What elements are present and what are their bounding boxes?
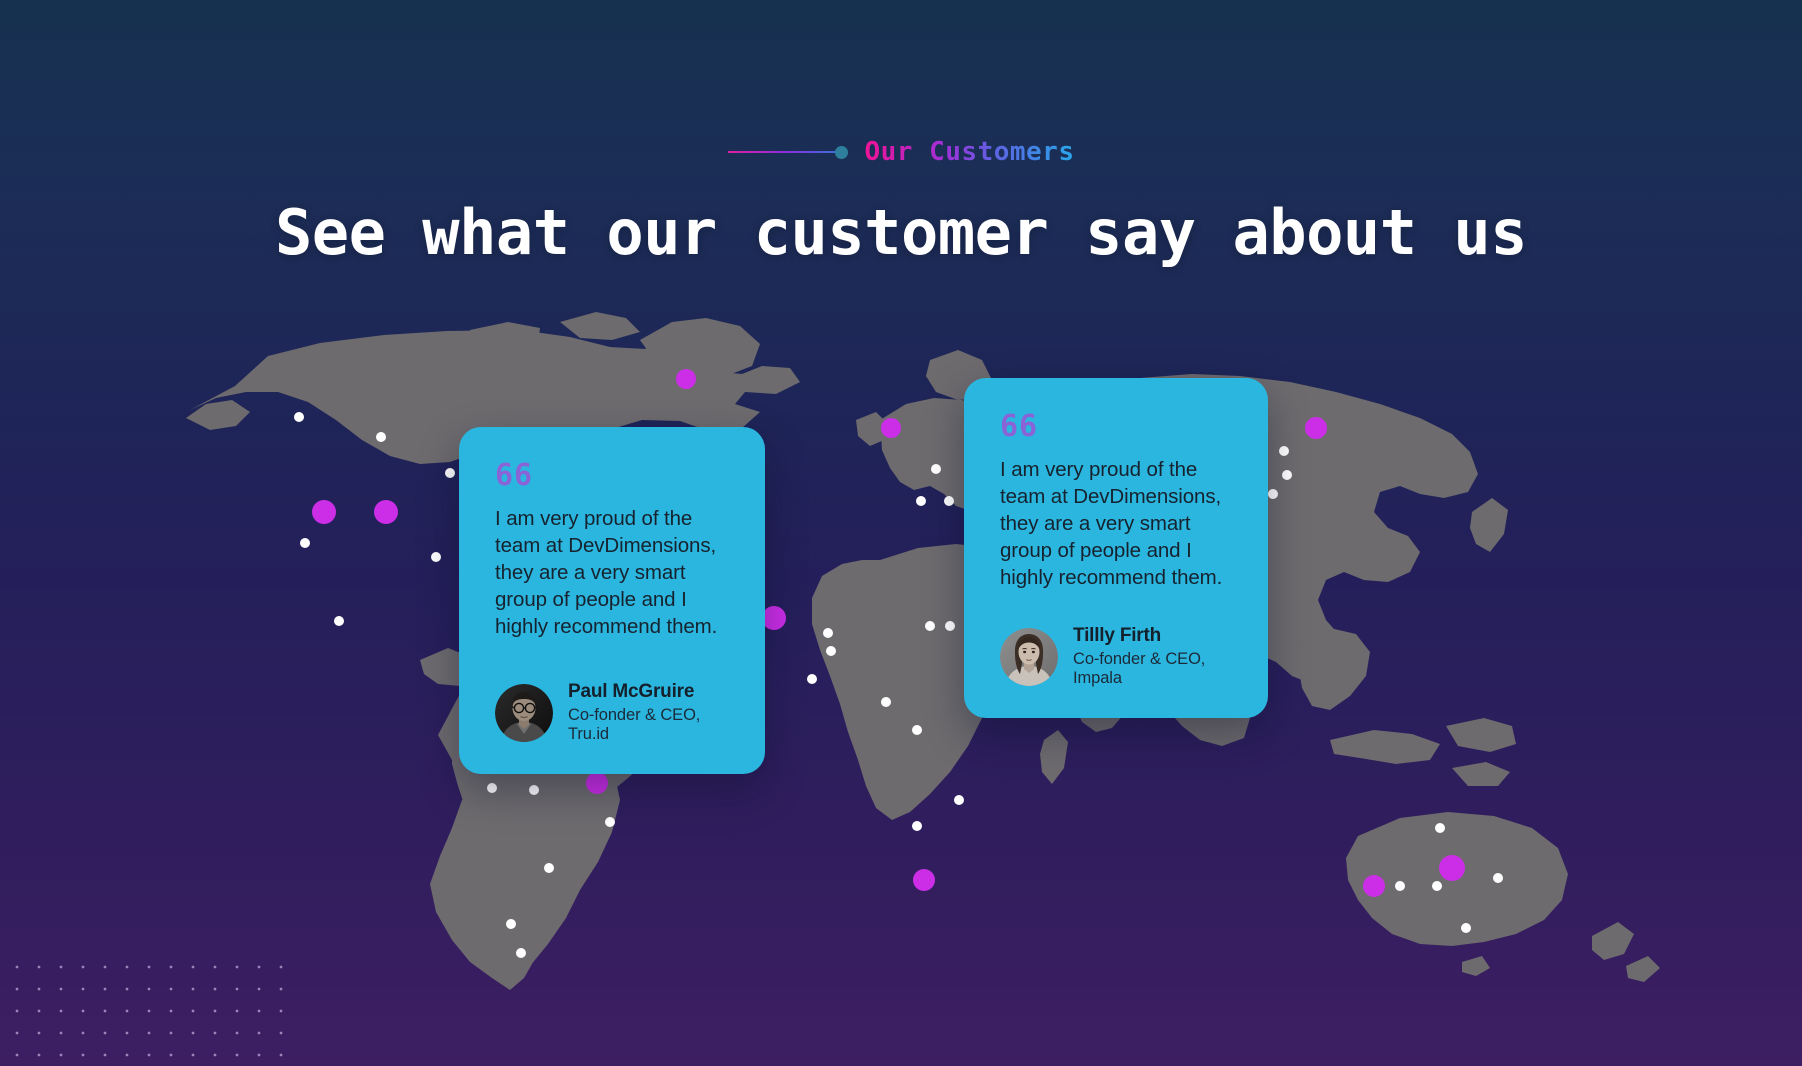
testimonial-author: Tillly Firth Co-fonder & CEO, Impala [1000,625,1232,688]
map-marker [881,697,891,707]
map-marker [823,628,833,638]
testimonial-author: Paul McGruire Co-fonder & CEO, Tru.id [495,681,729,744]
map-marker [334,616,344,626]
map-landmasses [186,312,1660,990]
eyebrow-gradient-line [728,151,836,153]
map-marker [916,496,926,506]
map-marker-highlight [1439,855,1465,881]
author-role: Co-fonder & CEO, Tru.id [568,706,729,744]
map-marker-highlight [762,606,786,630]
map-marker [912,821,922,831]
map-marker-highlight [676,369,696,389]
eyebrow: Our Customers [728,132,1075,172]
testimonial-quote: I am very proud of the team at DevDimens… [495,505,729,640]
testimonial-quote: I am very proud of the team at DevDimens… [1000,456,1232,591]
map-marker [431,552,441,562]
map-marker [1435,823,1445,833]
map-marker [954,795,964,805]
map-marker-highlight [913,869,935,891]
testimonial-card[interactable]: 66 I am very proud of the team at DevDim… [964,378,1268,718]
avatar [495,684,553,742]
author-name: Tillly Firth [1073,625,1232,647]
map-marker [945,621,955,631]
map-marker [1395,881,1405,891]
map-marker [294,412,304,422]
map-marker-highlight [881,418,901,438]
author-meta: Tillly Firth Co-fonder & CEO, Impala [1073,625,1232,688]
testimonial-card[interactable]: 66 I am very proud of the team at DevDim… [459,427,765,774]
map-marker-highlight [312,500,336,524]
map-marker [487,783,497,793]
map-marker [931,464,941,474]
map-marker [529,785,539,795]
map-marker [544,863,554,873]
map-marker [516,948,526,958]
map-marker-highlight [374,500,398,524]
eyebrow-label: Our Customers [865,137,1075,167]
map-marker [1268,489,1278,499]
map-marker-highlight [1363,875,1385,897]
author-name: Paul McGruire [568,681,729,703]
map-marker [300,538,310,548]
page-title: See what our customer say about us [0,196,1802,269]
author-meta: Paul McGruire Co-fonder & CEO, Tru.id [568,681,729,744]
map-marker [1279,446,1289,456]
map-marker [1432,881,1442,891]
map-marker [376,432,386,442]
decorative-dot-grid [6,956,296,1066]
author-role: Co-fonder & CEO, Impala [1073,650,1232,688]
map-marker [1282,470,1292,480]
map-marker [826,646,836,656]
map-marker [925,621,935,631]
map-marker-highlight [1305,417,1327,439]
map-marker [807,674,817,684]
quote-mark-icon: 66 [1000,412,1232,442]
quote-mark-icon: 66 [495,461,729,491]
map-marker-highlight [586,772,608,794]
section-header: Our Customers See what our customer say … [0,0,1802,269]
map-marker [1493,873,1503,883]
eyebrow-dot-icon [835,146,848,159]
avatar [1000,628,1058,686]
map-marker [1461,923,1471,933]
map-marker [445,468,455,478]
map-marker [605,817,615,827]
map-marker [912,725,922,735]
map-marker [506,919,516,929]
map-marker [944,496,954,506]
